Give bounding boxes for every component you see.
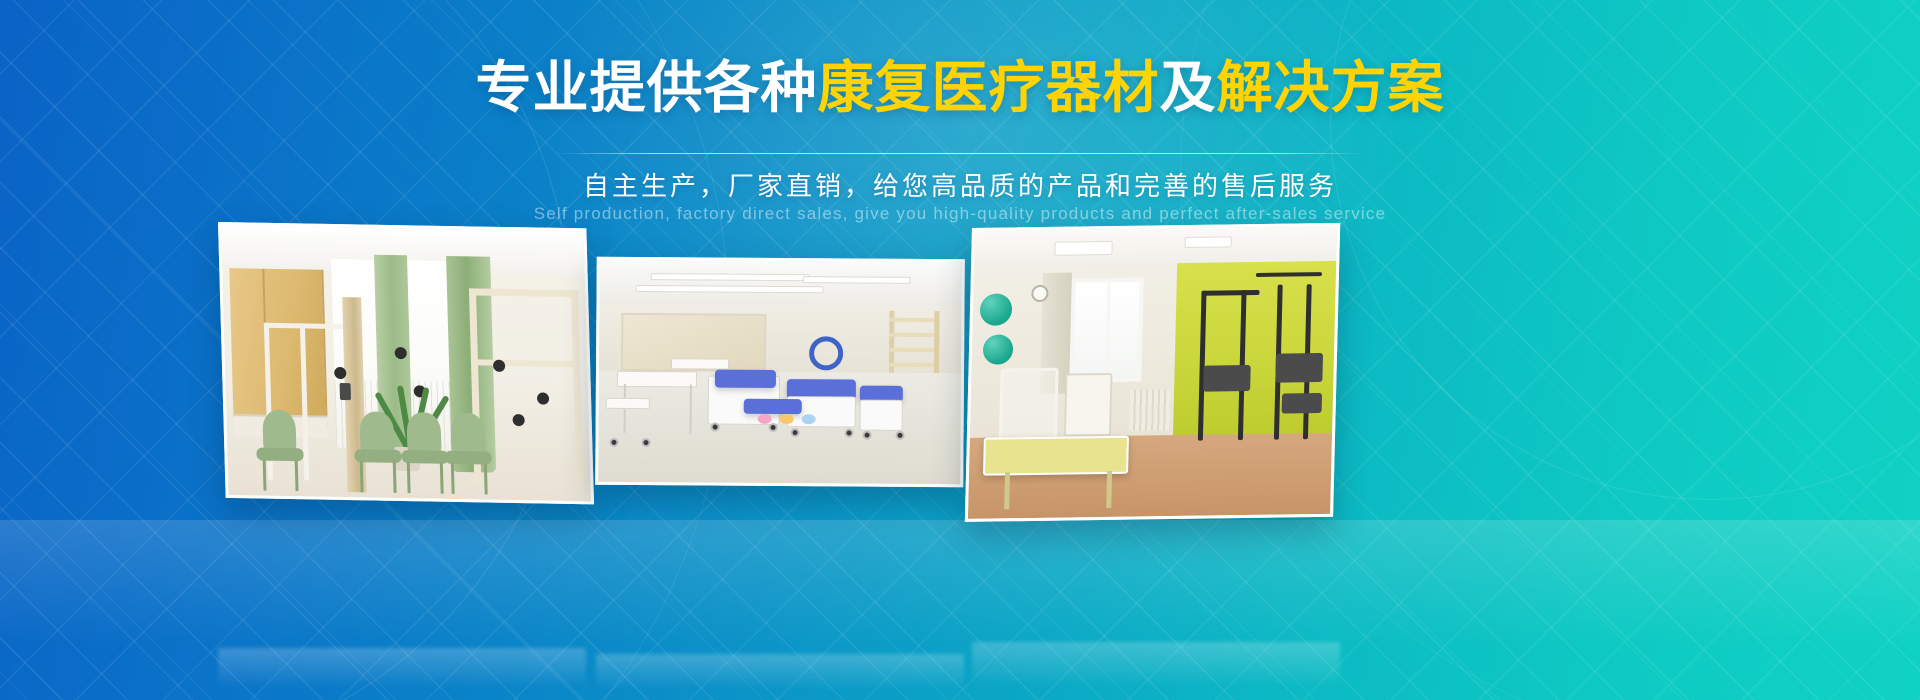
scene-therapy-hall: [598, 260, 962, 485]
page-title: 专业提供各种康复医疗器材及解决方案: [0, 56, 1920, 120]
subtitle-chinese: 自主生产，厂家直销，给您高品质的产品和完善的售后服务: [0, 166, 1920, 203]
photo-panel-therapy-hall[interactable]: [595, 257, 965, 488]
headline-segment-2: 康复医疗器材: [818, 56, 1160, 119]
headline-segment-1: 专业提供各种: [476, 56, 818, 119]
photo-panel-fitness-rehab-gym[interactable]: [965, 223, 1340, 522]
scene-fitness-rehab-gym: [968, 226, 1337, 519]
scene-rehab-training-room: [221, 225, 591, 501]
headline-segment-3: 及: [1160, 56, 1217, 119]
headline-container: 专业提供各种康复医疗器材及解决方案: [0, 56, 1920, 120]
photo-panel-rehab-training-room[interactable]: [218, 222, 594, 504]
headline-divider: [555, 153, 1365, 154]
headline-segment-4: 解决方案: [1217, 56, 1445, 119]
promo-banner: 专业提供各种康复医疗器材及解决方案 自主生产，厂家直销，给您高品质的产品和完善的…: [0, 0, 1920, 700]
subtitle-english: Self production, factory direct sales, g…: [0, 204, 1920, 224]
